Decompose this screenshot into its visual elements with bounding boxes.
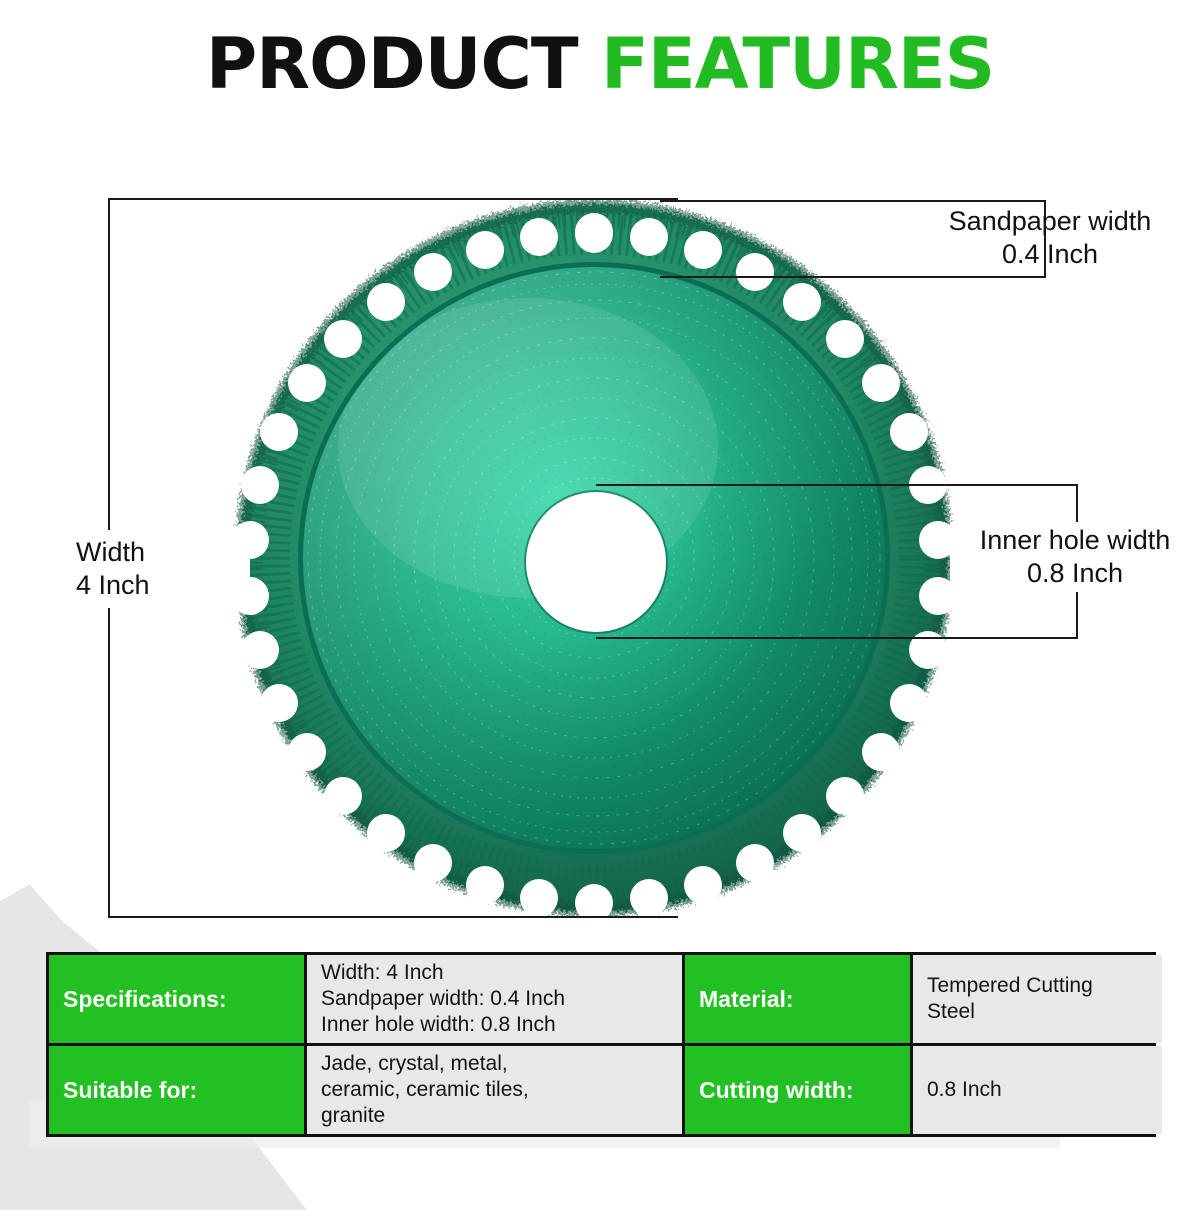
width-callout-value: 4 Inch xyxy=(76,569,246,602)
spec-value-specifications: Width: 4 Inch Sandpaper width: 0.4 Inch … xyxy=(307,955,682,1043)
page-title: PRODUCT FEATURES xyxy=(0,28,1200,100)
page-title-part-two: FEATURES xyxy=(601,23,994,105)
product-diagram: Width 4 Inch Sandpaper width 0.4 Inch In… xyxy=(0,0,1200,950)
spec-value-material: Tempered Cutting Steel xyxy=(913,955,1162,1043)
table-row: Specifications: xyxy=(49,955,304,1043)
spec-label-specifications: Specifications: xyxy=(63,986,227,1012)
spec-value-line: granite xyxy=(321,1103,529,1129)
spec-label-material: Material: xyxy=(685,955,910,1043)
spec-label-cutting-width: Cutting width: xyxy=(685,1046,910,1134)
spec-label-suitable-for: Suitable for: xyxy=(49,1046,304,1134)
sandpaper-callout: Sandpaper width 0.4 Inch xyxy=(905,205,1195,271)
spec-value-line: ceramic, ceramic tiles, xyxy=(321,1077,529,1103)
inner-hole-callout: Inner hole width 0.8 Inch xyxy=(950,522,1200,592)
spec-value-line: Steel xyxy=(927,999,1093,1025)
spec-value-suitable-for: Jade, crystal, metal, ceramic, ceramic t… xyxy=(307,1046,682,1134)
spec-value-line: 0.8 Inch xyxy=(927,1077,1002,1103)
spec-label-text: Suitable for: xyxy=(63,1077,197,1103)
inner-hole-callout-label: Inner hole width xyxy=(950,524,1200,557)
sandpaper-callout-label: Sandpaper width xyxy=(905,205,1195,238)
spec-value-line: Width: 4 Inch xyxy=(321,960,565,986)
spec-label-text: Material: xyxy=(699,986,794,1012)
spec-value-line: Jade, crystal, metal, xyxy=(321,1051,529,1077)
page-title-part-one: PRODUCT xyxy=(206,23,578,105)
width-callout-label: Width xyxy=(76,536,246,569)
specifications-table: Specifications: Width: 4 Inch Sandpaper … xyxy=(46,952,1156,1137)
sandpaper-callout-value: 0.4 Inch xyxy=(905,238,1195,271)
inner-hole-callout-value: 0.8 Inch xyxy=(950,557,1200,590)
spec-value-line: Sandpaper width: 0.4 Inch xyxy=(321,986,565,1012)
spec-label-text: Cutting width: xyxy=(699,1077,854,1103)
spec-value-line: Inner hole width: 0.8 Inch xyxy=(321,1012,565,1038)
spec-value-cutting-width: 0.8 Inch xyxy=(913,1046,1162,1134)
spec-value-line: Tempered Cutting xyxy=(927,973,1093,999)
width-callout: Width 4 Inch xyxy=(72,530,250,608)
